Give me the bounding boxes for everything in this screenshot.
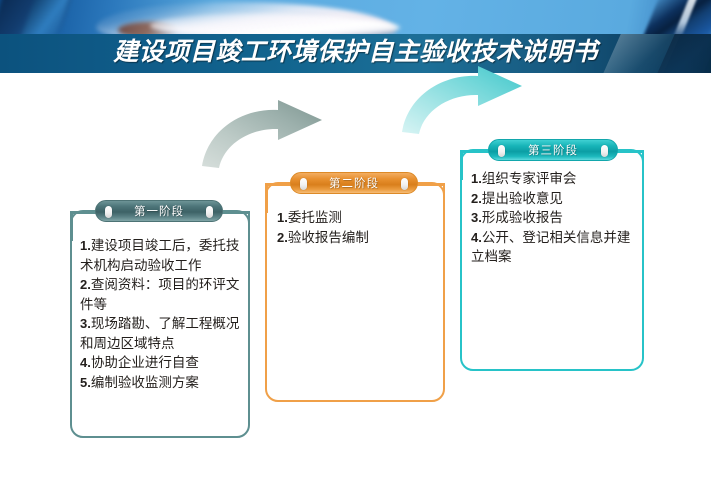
stage-2-knob-right-icon [401,178,408,190]
slide-canvas: 建设项目竣工环境保护自主验收技术说明书 [0,0,711,480]
list-item-number: 3. [80,316,91,331]
title-bar: 建设项目竣工环境保护自主验收技术说明书 [0,34,711,73]
list-item-text: 建设项目竣工后，委托技术机构启动验收工作 [80,238,239,273]
stage-3-connector-left [460,150,463,180]
stage-1-header-pill: 第一阶段 [95,200,223,222]
list-item: 3.现场踏勘、了解工程概况和周边区域特点 [80,314,246,353]
list-item: 1.委托监测 [277,208,441,228]
list-item-text: 协助企业进行自查 [91,355,199,370]
list-item: 4.公开、登记相关信息并建立档案 [471,228,641,267]
list-item: 1.组织专家评审会 [471,169,641,189]
stage-3-connector-left-top [460,150,490,153]
stage-1-knob-right-icon [206,206,213,218]
stage-3-header-pill: 第三阶段 [488,139,618,161]
list-item-number: 2. [471,191,482,206]
list-item: 2.查阅资料：项目的环评文件等 [80,275,246,314]
stage-1-connector-left [70,211,73,241]
list-item-number: 1. [80,238,91,253]
stage-1-connector-right-top [221,211,250,214]
stage-card-1[interactable]: 第一阶段 1.建设项目竣工后，委托技术机构启动验收工作 2.查阅资料：项目的环评… [70,200,250,438]
list-item-text: 提出验收意见 [482,191,563,206]
stage-1-connector-left-top [70,211,97,214]
stage-2-connector-right-top [416,183,445,186]
list-item-text: 验收报告编制 [288,230,369,245]
stage-3-knob-left-icon [498,145,505,157]
stage-2-connector-left-top [265,183,292,186]
stage-3-connector-right [642,150,645,180]
stage-3-item-list: 1.组织专家评审会 2.提出验收意见 3.形成验收报告 4.公开、登记相关信息并… [471,169,641,267]
list-item-number: 5. [80,375,91,390]
list-item-number: 4. [80,355,91,370]
list-item-number: 1. [471,171,482,186]
list-item-text: 委托监测 [288,210,342,225]
stage-2-connector-right [443,183,446,213]
stage-1-knob-left-icon [105,206,112,218]
stage-1-item-list: 1.建设项目竣工后，委托技术机构启动验收工作 2.查阅资料：项目的环评文件等 3… [80,236,246,392]
arrow-stage1-to-stage2 [198,100,326,170]
list-item-text: 现场踏勘、了解工程概况和周边区域特点 [80,316,239,351]
header-photo-band [0,0,711,34]
stage-card-2[interactable]: 第二阶段 1.委托监测 2.验收报告编制 [265,172,445,402]
list-item: 2.提出验收意见 [471,189,641,209]
list-item-number: 3. [471,210,482,225]
stage-2-header-label: 第二阶段 [291,173,417,193]
page-title: 建设项目竣工环境保护自主验收技术说明书 [0,34,711,73]
list-item: 2.验收报告编制 [277,228,441,248]
stage-2-knob-left-icon [300,178,307,190]
stage-3-connector-right-top [615,150,644,153]
list-item-number: 2. [277,230,288,245]
stage-3-knob-right-icon [601,145,608,157]
list-item-text: 公开、登记相关信息并建立档案 [471,230,630,265]
stage-1-header-label: 第一阶段 [96,201,222,221]
stage-2-item-list: 1.委托监测 2.验收报告编制 [277,208,441,247]
list-item-text: 查阅资料：项目的环评文件等 [80,277,239,312]
list-item-text: 形成验收报告 [482,210,563,225]
list-item: 4.协助企业进行自查 [80,353,246,373]
stage-2-connector-left [265,183,268,213]
list-item-text: 编制验收监测方案 [91,375,199,390]
stage-1-connector-right [248,211,251,241]
list-item-text: 组织专家评审会 [482,171,577,186]
stage-card-3[interactable]: 第三阶段 1.组织专家评审会 2.提出验收意见 3.形成验收报告 4.公开、登记… [460,139,644,371]
list-item-number: 2. [80,277,91,292]
stage-3-header-label: 第三阶段 [489,140,617,160]
list-item-number: 1. [277,210,288,225]
stage-2-header-pill: 第二阶段 [290,172,418,194]
arrow-stage2-to-stage3 [398,66,526,136]
list-item: 5.编制验收监测方案 [80,373,246,393]
list-item: 1.建设项目竣工后，委托技术机构启动验收工作 [80,236,246,275]
list-item-number: 4. [471,230,482,245]
list-item: 3.形成验收报告 [471,208,641,228]
